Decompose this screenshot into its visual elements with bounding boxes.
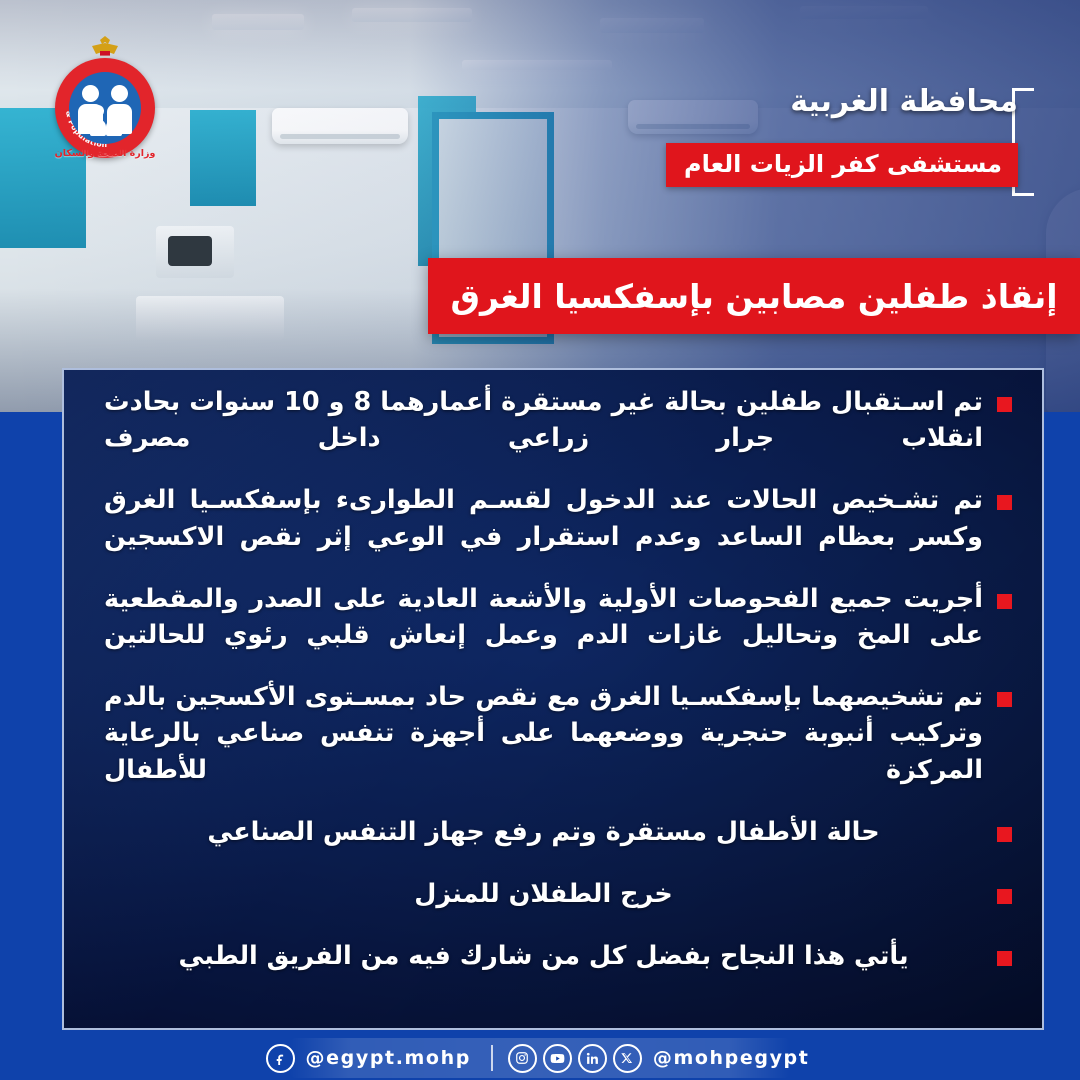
logo-arabic-caption: وزارة الصحة والسكان: [55, 148, 156, 159]
logo-blue-disc: [69, 72, 141, 144]
bullet-item: يأتي هذا النجاح بفضل كل من شارك فيه من ا…: [104, 938, 1012, 974]
content-panel: تم اسـتقبال طفلين بحالة غير مستقرة أعمار…: [62, 368, 1044, 1030]
hospital-title: مستشفى كفر الزيات العام: [666, 143, 1018, 187]
bullet-text: يأتي هذا النجاح بفضل كل من شارك فيه من ا…: [104, 938, 983, 974]
logo-figure-child-left-body: [90, 119, 106, 136]
bullet-item: خرج الطفلان للمنزل: [104, 876, 1012, 912]
bullet-item: حالة الأطفال مستقرة وتم رفع جهاز التنفس …: [104, 814, 1012, 850]
bullet-marker-icon: [997, 889, 1012, 904]
bullet-list: تم اسـتقبال طفلين بحالة غير مستقرة أعمار…: [64, 370, 1042, 1010]
youtube-icon[interactable]: [543, 1044, 572, 1073]
other-platforms-handle[interactable]: @mohpegypt: [653, 1047, 810, 1069]
logo-figure-child-left: [92, 105, 104, 117]
logo-figure-child-right-body: [106, 119, 122, 136]
footer-divider: [491, 1045, 493, 1071]
ministry-logo: Ministry of Health & Population وزارة ال…: [46, 28, 164, 170]
bullet-text: تم اسـتقبال طفلين بحالة غير مستقرة أعمار…: [104, 384, 983, 456]
bullet-text: أجريت جميع الفحوصات الأولية والأشعة العا…: [104, 581, 983, 653]
bullet-marker-icon: [997, 495, 1012, 510]
bullet-marker-icon: [997, 827, 1012, 842]
main-title-text: إنقاذ طفلين مصابين بإسفكسيا الغرق: [450, 277, 1057, 316]
facebook-icon[interactable]: [266, 1044, 295, 1073]
bullet-text: تم تشخيصهما بإسفكسـيا الغرق مع نقص حاد ب…: [104, 679, 983, 788]
bullet-marker-icon: [997, 692, 1012, 707]
bullet-text: خرج الطفلان للمنزل: [104, 876, 983, 912]
instagram-icon[interactable]: [508, 1044, 537, 1073]
infographic-poster: Ministry of Health & Population وزارة ال…: [0, 0, 1080, 1080]
logo-figure-adult-left: [82, 85, 99, 102]
bullet-item: تم اسـتقبال طفلين بحالة غير مستقرة أعمار…: [104, 384, 1012, 456]
social-footer-bar: @egypt.mohp: [290, 1038, 790, 1078]
logo-figure-child-right: [108, 105, 120, 117]
governorate-title: محافظة الغربية: [790, 84, 1018, 119]
bullet-item: أجريت جميع الفحوصات الأولية والأشعة العا…: [104, 581, 1012, 653]
main-title-band: إنقاذ طفلين مصابين بإسفكسيا الغرق: [428, 258, 1080, 334]
bullet-marker-icon: [997, 594, 1012, 609]
x-twitter-icon[interactable]: [613, 1044, 642, 1073]
bullet-text: حالة الأطفال مستقرة وتم رفع جهاز التنفس …: [104, 814, 983, 850]
bullet-marker-icon: [997, 397, 1012, 412]
bullet-item: تم تشـخيص الحالات عند الدخول لقسـم الطوا…: [104, 482, 1012, 554]
facebook-handle[interactable]: @egypt.mohp: [306, 1047, 471, 1069]
bullet-text: تم تشـخيص الحالات عند الدخول لقسـم الطوا…: [104, 482, 983, 554]
logo-red-ring: Ministry of Health & Population: [55, 58, 155, 158]
logo-figure-adult-right: [111, 85, 128, 102]
linkedin-icon[interactable]: [578, 1044, 607, 1073]
bullet-marker-icon: [997, 951, 1012, 966]
bullet-item: تم تشخيصهما بإسفكسـيا الغرق مع نقص حاد ب…: [104, 679, 1012, 788]
